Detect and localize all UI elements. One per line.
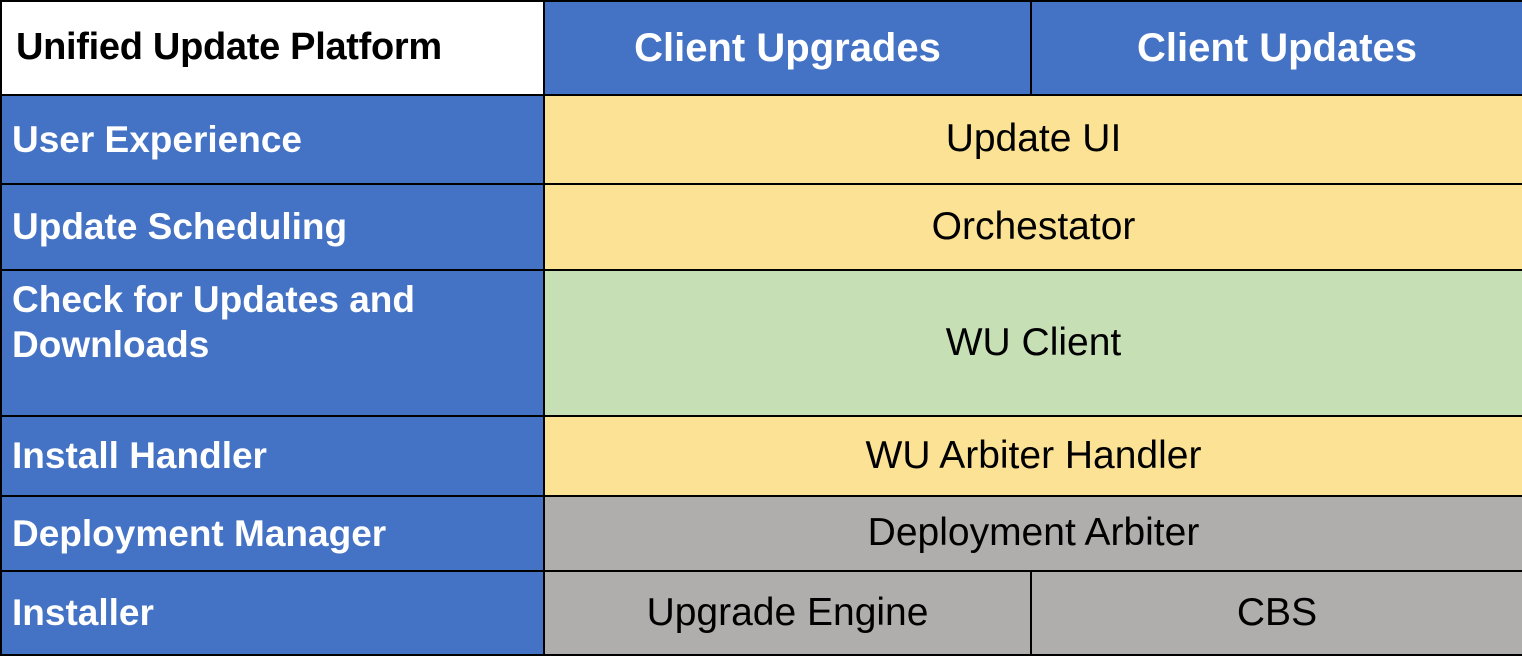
row-label-text: Check for Updates and Downloads: [2, 271, 543, 367]
column-header-client-upgrades: Client Upgrades: [544, 1, 1031, 95]
cell-update-ui: Update UI: [544, 95, 1522, 184]
table-row: Installer Upgrade Engine CBS: [1, 571, 1522, 655]
cell-wu-client: WU Client: [544, 270, 1522, 416]
row-label-update-scheduling: Update Scheduling: [1, 184, 544, 270]
cell-cbs: CBS: [1031, 571, 1522, 655]
unified-update-platform-table: Unified Update Platform Client Upgrades …: [0, 0, 1522, 656]
row-label-install-handler: Install Handler: [1, 416, 544, 496]
cell-text: Update UI: [946, 117, 1122, 160]
page-title: Unified Update Platform: [2, 26, 456, 68]
cell-text: CBS: [1237, 591, 1317, 634]
row-label-installer: Installer: [1, 571, 544, 655]
cell-wu-arbiter-handler: WU Arbiter Handler: [544, 416, 1522, 496]
cell-text: Upgrade Engine: [647, 591, 929, 634]
table-row: Deployment Manager Deployment Arbiter: [1, 496, 1522, 571]
cell-orchestator: Orchestator: [544, 184, 1522, 270]
cell-upgrade-engine: Upgrade Engine: [544, 571, 1031, 655]
row-label-text: Deployment Manager: [2, 511, 543, 556]
cell-text: WU Arbiter Handler: [866, 434, 1202, 477]
table-row: User Experience Update UI: [1, 95, 1522, 184]
table-row: Update Scheduling Orchestator: [1, 184, 1522, 270]
cell-text: WU Client: [946, 321, 1122, 364]
row-label-text: User Experience: [2, 117, 543, 162]
diagram-title-cell: Unified Update Platform: [1, 1, 544, 95]
row-label-text: Update Scheduling: [2, 204, 543, 249]
column-header-label: Client Upgrades: [634, 26, 941, 70]
column-header-client-updates: Client Updates: [1031, 1, 1522, 95]
cell-text: Deployment Arbiter: [868, 511, 1200, 554]
table-row: Install Handler WU Arbiter Handler: [1, 416, 1522, 496]
row-label-text: Installer: [2, 590, 543, 635]
cell-text: Orchestator: [932, 205, 1136, 248]
row-label-text: Install Handler: [2, 433, 543, 478]
cell-deployment-arbiter: Deployment Arbiter: [544, 496, 1522, 571]
column-header-label: Client Updates: [1137, 26, 1417, 70]
row-label-deployment-manager: Deployment Manager: [1, 496, 544, 571]
table-header-row: Unified Update Platform Client Upgrades …: [1, 1, 1522, 95]
table-row: Check for Updates and Downloads WU Clien…: [1, 270, 1522, 416]
row-label-user-experience: User Experience: [1, 95, 544, 184]
row-label-check-for-updates-and-downloads: Check for Updates and Downloads: [1, 270, 544, 416]
